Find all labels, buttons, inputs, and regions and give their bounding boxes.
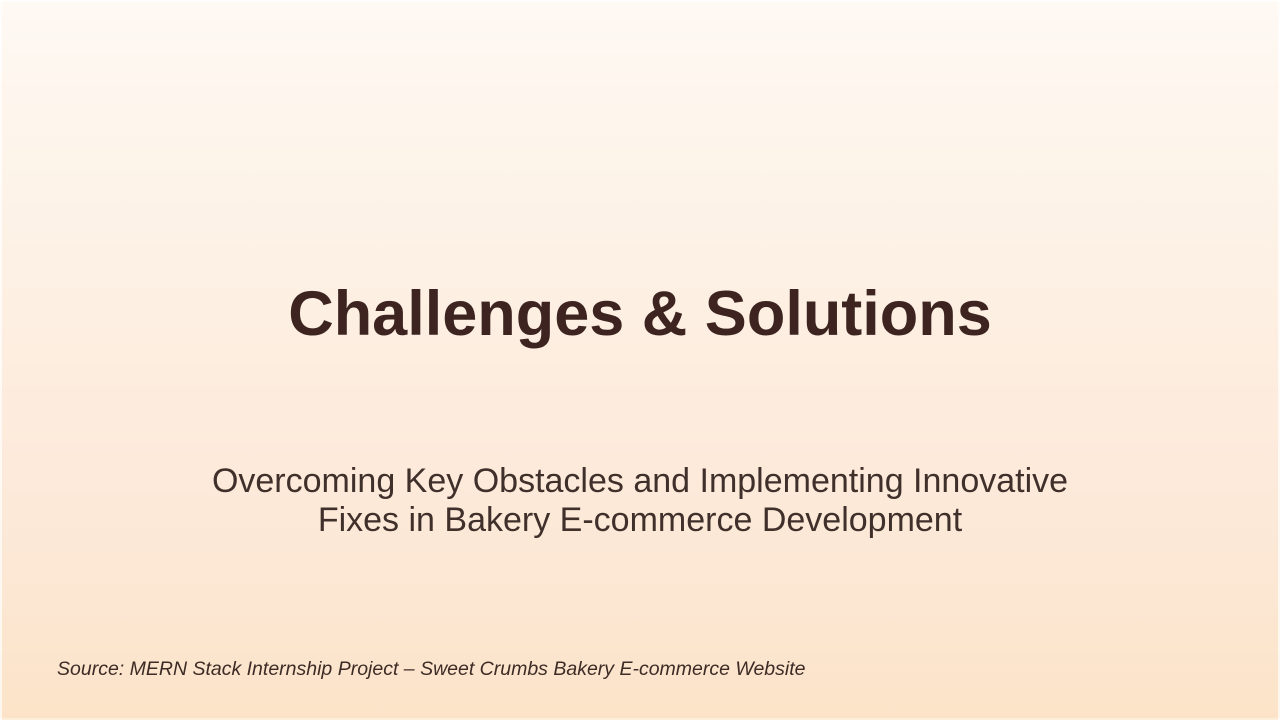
source-attribution: Source: MERN Stack Internship Project – …	[57, 656, 1157, 682]
slide-subtitle-line-2: Fixes in Bakery E-commerce Development	[140, 501, 1140, 540]
slide-subtitle-line-1: Overcoming Key Obstacles and Implementin…	[140, 462, 1140, 501]
source-block: Source: MERN Stack Internship Project – …	[57, 656, 1157, 682]
title-block: Challenges & Solutions	[0, 275, 1280, 353]
presentation-slide: Challenges & Solutions Overcoming Key Ob…	[0, 0, 1280, 720]
subtitle-block: Overcoming Key Obstacles and Implementin…	[140, 462, 1140, 540]
slide-edge-left	[0, 0, 2, 720]
slide-edge-top	[0, 0, 1280, 2]
slide-title: Challenges & Solutions	[0, 275, 1280, 353]
